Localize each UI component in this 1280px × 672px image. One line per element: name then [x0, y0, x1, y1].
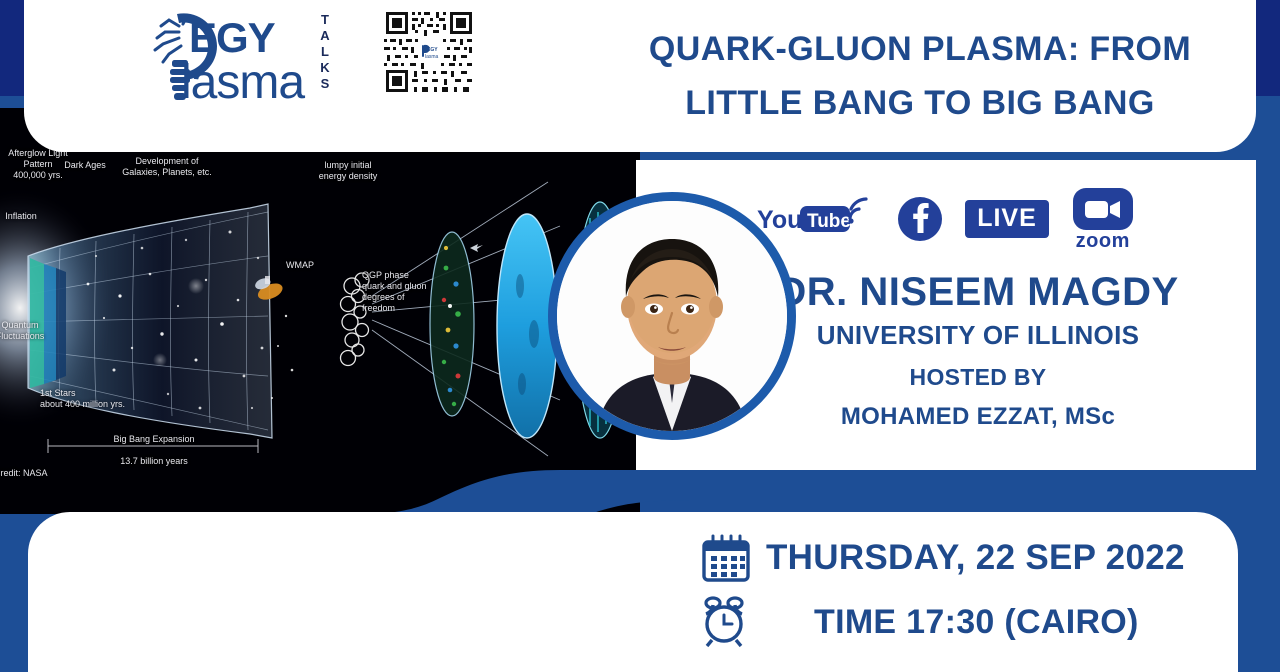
webinar-poster: Afterglow LightPattern400,000 yrs. Dark …	[0, 0, 1280, 672]
svg-text:A: A	[320, 28, 330, 43]
qr-code[interactable]: EGY lasma	[381, 9, 477, 97]
qr-code-icon[interactable]: EGY lasma	[381, 9, 477, 97]
header-panel: EGY lasma T A L K S	[24, 0, 1256, 152]
alarm-clock-icon	[700, 596, 748, 648]
event-time-text: TIME 17:30 (CAIRO)	[814, 603, 1139, 642]
page-title: QUARK-GLUON PLASMA: FROM LITTLE BANG TO …	[584, 22, 1256, 130]
event-date-row: THURSDAY, 22 SEP 2022	[700, 532, 1185, 584]
zoom-icon-group[interactable]: zoom	[1071, 186, 1135, 253]
host-name: MOHAMED EZZAT, MSc	[700, 400, 1256, 434]
live-badge[interactable]: LIVE	[965, 200, 1049, 238]
title-line-2: LITTLE BANG TO BIG BANG	[584, 76, 1256, 130]
zoom-label: zoom	[1076, 230, 1130, 253]
svg-text:lasma: lasma	[181, 56, 305, 108]
title-line-1: QUARK-GLUON PLASMA: FROM	[584, 22, 1256, 76]
science-illustration: Afterglow LightPattern400,000 yrs. Dark …	[0, 108, 640, 514]
speaker-avatar	[548, 192, 796, 440]
event-date-text: THURSDAY, 22 SEP 2022	[766, 538, 1185, 578]
brand-logo[interactable]: EGY lasma T A L K S	[129, 4, 359, 108]
svg-text:EGY: EGY	[189, 14, 276, 61]
facebook-icon[interactable]	[897, 196, 943, 242]
zoom-icon[interactable]	[1071, 186, 1135, 232]
svg-text:L: L	[321, 44, 329, 59]
svg-text:K: K	[320, 60, 330, 75]
calendar-icon	[700, 532, 752, 584]
svg-text:lasma: lasma	[425, 54, 439, 60]
svg-text:You: You	[757, 206, 802, 234]
svg-text:S: S	[321, 76, 330, 91]
svg-text:Tube: Tube	[807, 211, 851, 232]
youtube-icon[interactable]: You Tube	[757, 196, 875, 242]
svg-text:EGY: EGY	[427, 47, 438, 53]
event-time-row: TIME 17:30 (CAIRO)	[700, 596, 1139, 648]
egy-plasma-logo[interactable]: EGY lasma T A L K S	[129, 4, 359, 108]
universe-timeline-graphic	[0, 108, 640, 514]
svg-text:T: T	[321, 12, 329, 27]
speaker-photo	[557, 201, 787, 431]
